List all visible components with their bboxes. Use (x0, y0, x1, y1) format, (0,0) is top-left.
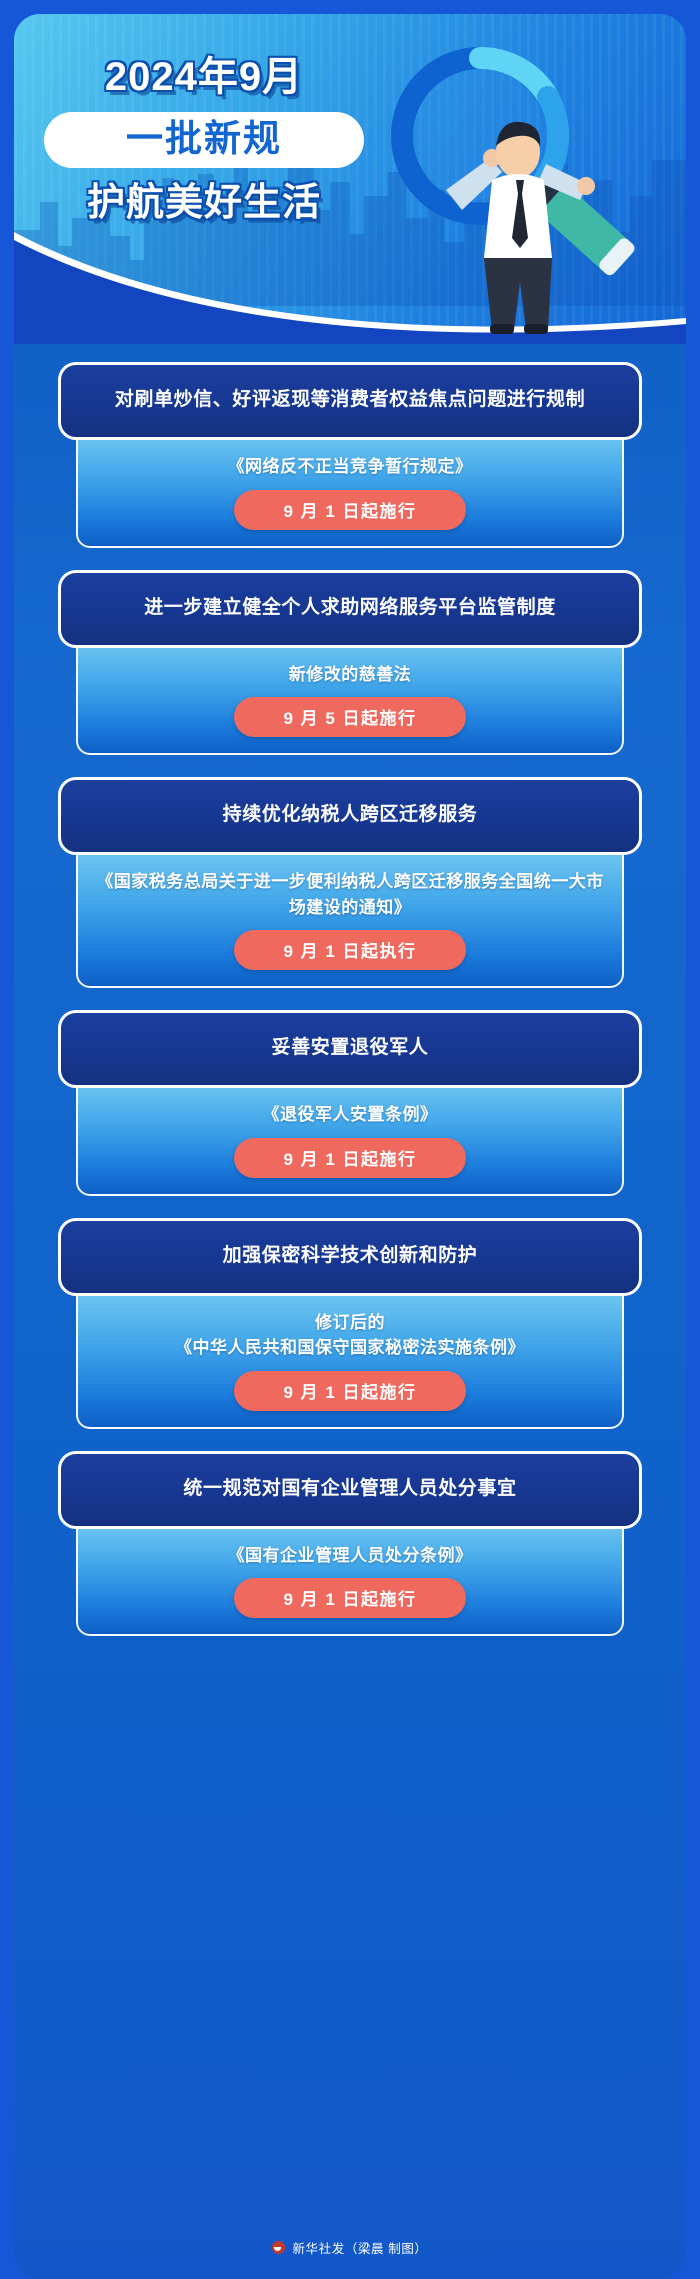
card-title: 对刷单炒信、好评返现等消费者权益焦点问题进行规制 (58, 362, 642, 440)
regulation-card: 妥善安置退役军人 《退役军人安置条例》 9 月 1 日起施行 (58, 1010, 642, 1196)
law-prefix: 修订后的 (96, 1310, 604, 1336)
card-title: 进一步建立健全个人求助网络服务平台监管制度 (58, 570, 642, 648)
law-name: 新修改的慈善法 (96, 662, 604, 688)
regulation-card: 进一步建立健全个人求助网络服务平台监管制度 新修改的慈善法 9 月 5 日起施行 (58, 570, 642, 756)
header-title-pill: 一批新规 (44, 112, 364, 168)
law-name: 《中华人民共和国保守国家秘密法实施条例》 (96, 1335, 604, 1361)
regulation-card-list: 对刷单炒信、好评返现等消费者权益焦点问题进行规制 《网络反不正当竞争暂行规定》 … (14, 362, 686, 1636)
law-name: 《网络反不正当竞争暂行规定》 (96, 454, 604, 480)
header-title-block: 2024年9月 一批新规 护航美好生活 (44, 54, 364, 226)
header-title-line2: 一批新规 (64, 118, 344, 159)
regulation-card: 统一规范对国有企业管理人员处分事宜 《国有企业管理人员处分条例》 9 月 1 日… (58, 1451, 642, 1637)
card-title: 统一规范对国有企业管理人员处分事宜 (58, 1451, 642, 1529)
card-detail-panel: 《国家税务总局关于进一步便利纳税人跨区迁移服务全国统一大市场建设的通知》 9 月… (76, 833, 624, 988)
poster-header: 2024年9月 一批新规 护航美好生活 (14, 14, 686, 344)
law-name: 《国有企业管理人员处分条例》 (96, 1543, 604, 1569)
effective-date-badge: 9 月 1 日起施行 (234, 1138, 466, 1178)
infographic-poster: 2024年9月 一批新规 护航美好生活 对刷单炒信、好评返现等消费者权益焦点问题… (0, 0, 700, 2279)
header-title-line3: 护航美好生活 (44, 182, 364, 226)
card-title: 持续优化纳税人跨区迁移服务 (58, 777, 642, 855)
poster-body: 对刷单炒信、好评返现等消费者权益焦点问题进行规制 《网络反不正当竞争暂行规定》 … (14, 344, 686, 2279)
regulation-card: 持续优化纳税人跨区迁移服务 《国家税务总局关于进一步便利纳税人跨区迁移服务全国统… (58, 777, 642, 988)
effective-date-badge: 9 月 5 日起施行 (234, 697, 466, 737)
card-title: 加强保密科学技术创新和防护 (58, 1218, 642, 1296)
hero-illustration (350, 24, 680, 344)
effective-date-badge: 9 月 1 日起施行 (234, 1578, 466, 1618)
regulation-card: 加强保密科学技术创新和防护 修订后的 《中华人民共和国保守国家秘密法实施条例》 … (58, 1218, 642, 1429)
law-name: 《退役军人安置条例》 (96, 1102, 604, 1128)
effective-date-badge: 9 月 1 日起施行 (234, 490, 466, 530)
poster-footer: 新华社发（梁晨 制图） (0, 2238, 700, 2257)
header-title-line1: 2024年9月 (44, 54, 364, 100)
xinhua-logo-icon (272, 2241, 285, 2254)
card-detail-panel: 修订后的 《中华人民共和国保守国家秘密法实施条例》 9 月 1 日起施行 (76, 1274, 624, 1429)
effective-date-badge: 9 月 1 日起施行 (234, 1371, 466, 1411)
footer-credit: 新华社发（梁晨 制图） (292, 2238, 427, 2257)
regulation-card: 对刷单炒信、好评返现等消费者权益焦点问题进行规制 《网络反不正当竞争暂行规定》 … (58, 362, 642, 548)
card-title: 妥善安置退役军人 (58, 1010, 642, 1088)
effective-date-badge: 9 月 1 日起执行 (234, 930, 466, 970)
law-name: 《国家税务总局关于进一步便利纳税人跨区迁移服务全国统一大市场建设的通知》 (96, 869, 604, 920)
